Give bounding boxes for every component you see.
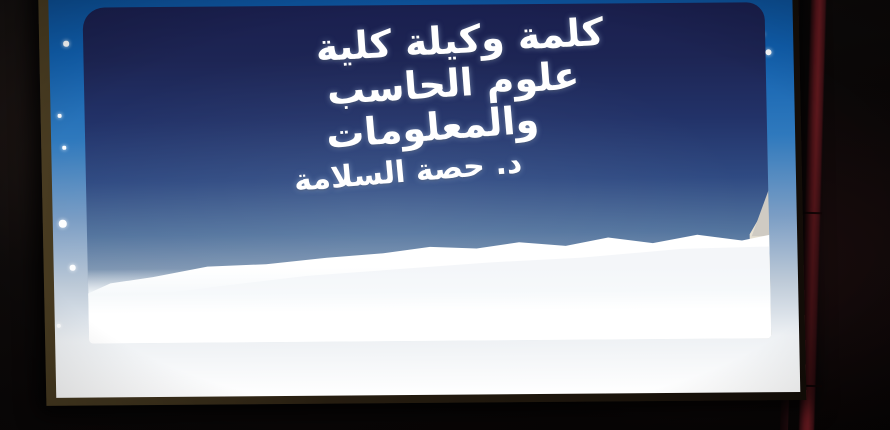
slide-content-panel: كلمة وكيلة كلية علوم الحاسب والمعلومات د… xyxy=(82,2,771,343)
star-dot xyxy=(63,146,66,149)
star-dot xyxy=(58,114,61,117)
slide-title-block: كلمة وكيلة كلية علوم الحاسب والمعلومات د… xyxy=(199,2,731,200)
screen-surface: كلمة وكيلة كلية علوم الحاسب والمعلومات د… xyxy=(48,0,800,398)
star-dot xyxy=(70,265,75,270)
projector-bottom-glow xyxy=(88,264,772,343)
star-dot xyxy=(59,220,66,227)
projection-screen: كلمة وكيلة كلية علوم الحاسب والمعلومات د… xyxy=(38,0,806,406)
star-dot xyxy=(57,324,61,328)
star-dot xyxy=(64,41,69,46)
star-dot xyxy=(765,49,772,56)
auditorium-room: كلمة وكيلة كلية علوم الحاسب والمعلومات د… xyxy=(0,0,890,430)
